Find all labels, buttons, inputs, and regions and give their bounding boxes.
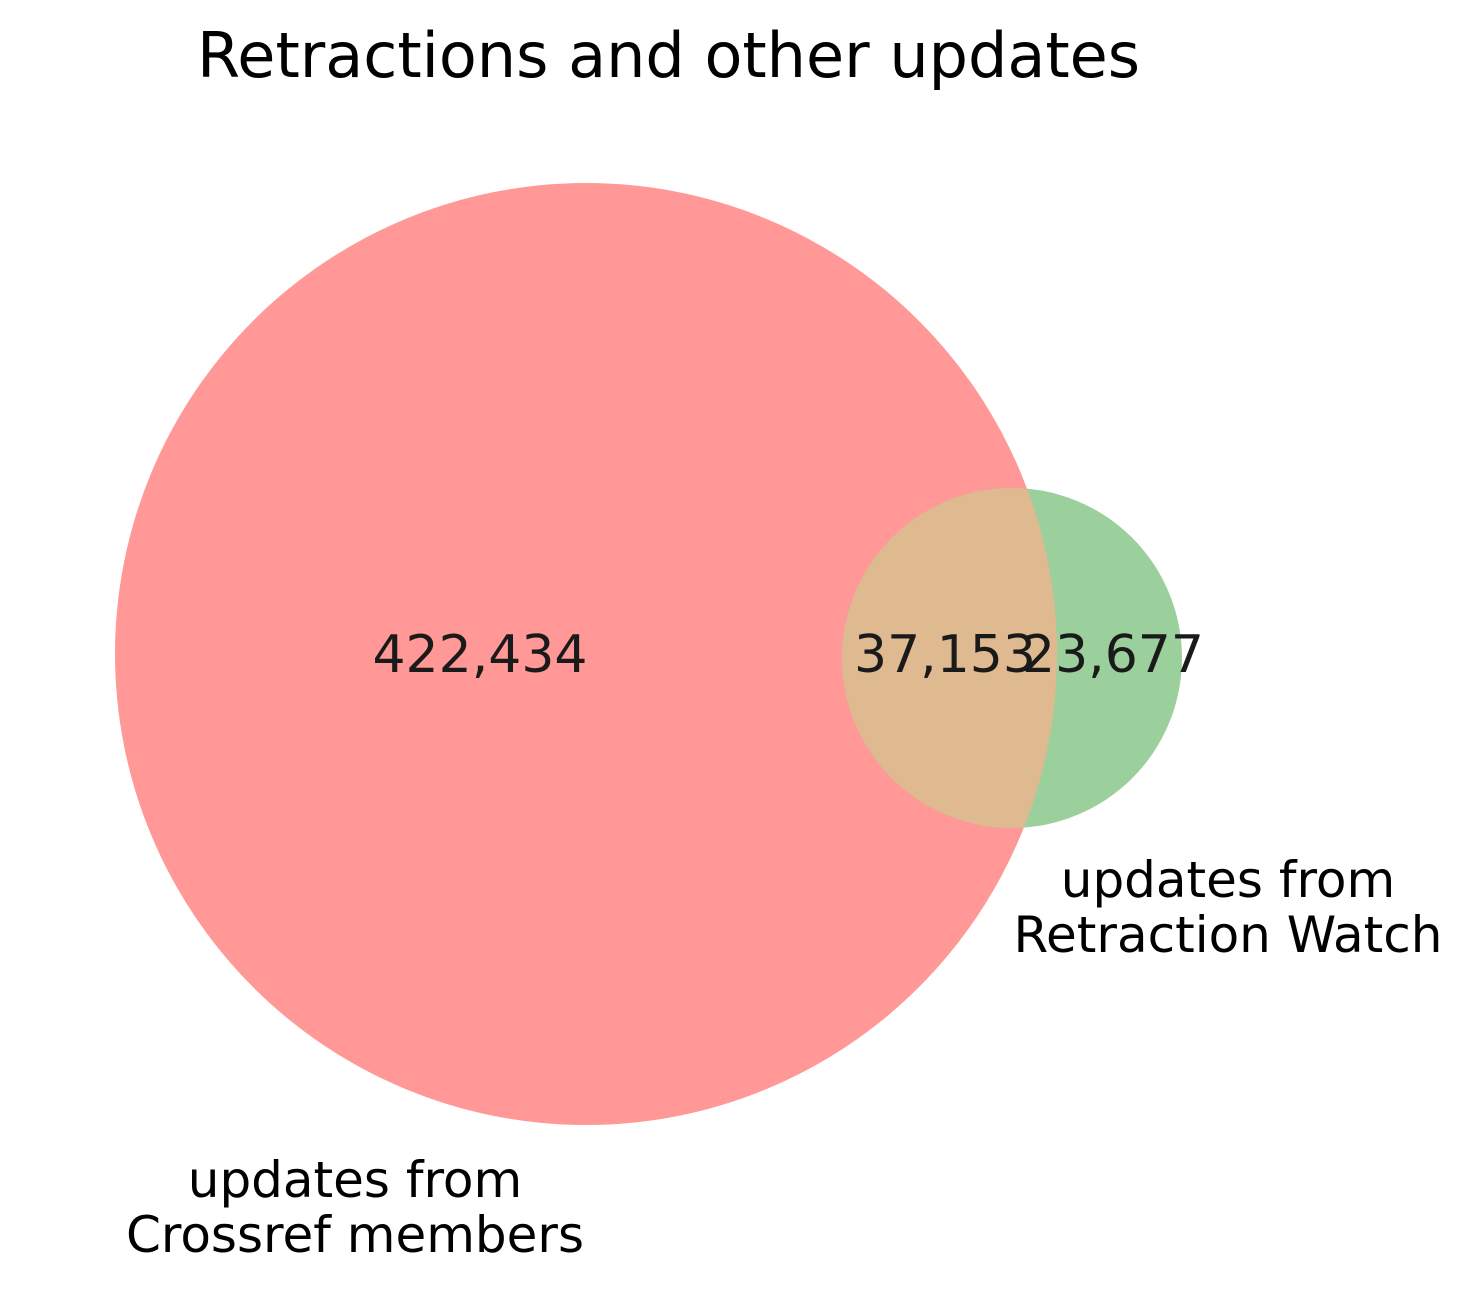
count-set-b-only: 23,677	[1022, 625, 1204, 685]
venn-canvas: Retractions and other updates 422,434 37…	[0, 0, 1472, 1290]
figure-title: Retractions and other updates	[197, 19, 1140, 92]
set-b-label-line2: Retraction Watch	[1014, 906, 1443, 964]
count-intersection: 37,153	[854, 625, 1036, 685]
count-set-a-only: 422,434	[372, 625, 587, 685]
set-a-label-line1: updates from	[188, 1151, 522, 1209]
set-b-label-line1: updates from	[1061, 851, 1395, 909]
venn-diagram-figure: Retractions and other updates 422,434 37…	[0, 0, 1472, 1290]
set-a-label-line2: Crossref members	[126, 1206, 584, 1264]
